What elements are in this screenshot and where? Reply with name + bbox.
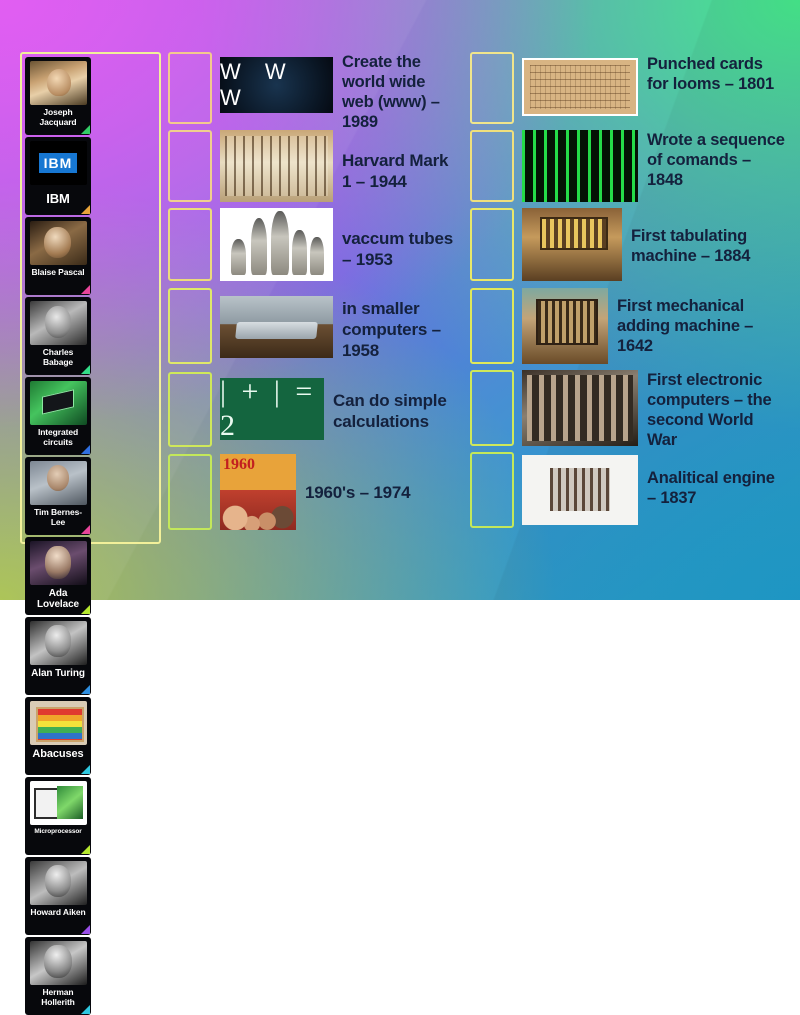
match-label: Analitical engine – 1837 <box>638 466 787 508</box>
portrait-tim-berners-lee-icon <box>30 461 87 505</box>
tile-corner-flag-icon <box>81 365 90 374</box>
match-label: First electronic computers – the second … <box>638 368 787 450</box>
tile-corner-flag-icon <box>81 205 90 214</box>
match-row: Wrote a sequence of comands – 1848 <box>470 130 790 208</box>
tile-microprocessor[interactable]: Microprocessor <box>25 777 91 855</box>
match-label: 1960's – 1974 <box>296 480 445 503</box>
match-row: Harvard Mark 1 – 1944 <box>168 130 458 208</box>
tile-label: Howard Aiken <box>27 908 89 918</box>
match-row: First mechanical adding machine – 1642 <box>470 288 790 370</box>
tile-label: Abacuses <box>27 748 89 760</box>
drop-slot-7[interactable] <box>470 52 514 124</box>
tile-corner-flag-icon <box>81 605 90 614</box>
tile-label: Ada Lovelace <box>27 588 89 610</box>
drop-slot-12[interactable] <box>470 452 514 528</box>
portrait-joseph-jacquard-icon <box>30 61 87 105</box>
match-row: First electronic computers – the second … <box>470 370 790 452</box>
harvard-mark-1-image <box>220 130 333 202</box>
portrait-herman-hollerith-icon <box>30 941 87 985</box>
tile-charles-babage[interactable]: Charles Babage <box>25 297 91 375</box>
draggable-tiles-panel: Joseph Jacquard IBM Blaise Pascal Charle… <box>20 52 161 544</box>
match-up-activity-board: Joseph Jacquard IBM Blaise Pascal Charle… <box>0 0 800 600</box>
match-label: First tabulating machine – 1884 <box>622 224 783 266</box>
portrait-alan-turing-icon <box>30 621 87 665</box>
tile-label: Joseph Jacquard <box>27 108 89 127</box>
portrait-blaise-pascal-icon <box>30 221 87 265</box>
tile-corner-flag-icon <box>81 525 90 534</box>
match-label: Create the world wide web (www) – 1989 <box>333 50 457 132</box>
match-row: 1960's – 1974 <box>168 454 458 534</box>
tabulating-machine-image <box>522 208 622 281</box>
tile-corner-flag-icon <box>81 685 90 694</box>
tile-integrated-circuits[interactable]: Integrated circuits <box>25 377 91 455</box>
punched-card-image <box>522 58 638 116</box>
1960s-album-cover-image <box>220 454 296 530</box>
match-label: vaccum tubes – 1953 <box>333 226 457 270</box>
equation-text: | + | = 2 <box>220 378 324 440</box>
tile-label: IBM <box>27 191 89 206</box>
tile-label: Integrated circuits <box>27 428 89 447</box>
match-label: First mechanical adding machine – 1642 <box>608 294 783 356</box>
match-row: W W W Create the world wide web (www) – … <box>168 52 458 130</box>
tile-corner-flag-icon <box>81 845 90 854</box>
ibm-logo-icon <box>30 141 87 185</box>
drop-slot-4[interactable] <box>168 288 212 364</box>
eniac-computer-image <box>522 370 638 446</box>
tile-ibm[interactable]: IBM <box>25 137 91 215</box>
chalkboard-equation-image: | + | = 2 <box>220 378 324 440</box>
drop-slot-5[interactable] <box>168 372 212 447</box>
match-row: Analitical engine – 1837 <box>470 452 790 532</box>
portrait-ada-lovelace-icon <box>30 541 87 585</box>
drop-column-left: W W W Create the world wide web (www) – … <box>168 52 458 534</box>
tile-corner-flag-icon <box>81 765 90 774</box>
tile-label: Charles Babage <box>27 348 89 367</box>
tile-joseph-jacquard[interactable]: Joseph Jacquard <box>25 57 91 135</box>
binary-code-image <box>522 130 638 202</box>
tile-label: Alan Turing <box>27 668 89 679</box>
tile-label: Herman Hollerith <box>27 988 89 1007</box>
tile-corner-flag-icon <box>81 925 90 934</box>
drop-slot-1[interactable] <box>168 52 212 124</box>
tile-corner-flag-icon <box>81 1005 90 1014</box>
drop-slot-8[interactable] <box>470 130 514 202</box>
colored-abacus-icon <box>30 701 87 745</box>
match-row: Punched cards for looms – 1801 <box>470 52 790 130</box>
tile-corner-flag-icon <box>81 125 90 134</box>
tile-label: Blaise Pascal <box>27 268 89 278</box>
drop-slot-10[interactable] <box>470 288 514 364</box>
analytical-engine-image <box>522 455 638 525</box>
tile-abacuses[interactable]: Abacuses <box>25 697 91 775</box>
tile-corner-flag-icon <box>81 285 90 294</box>
drop-slot-2[interactable] <box>168 130 212 202</box>
vacuum-tubes-image <box>220 208 333 281</box>
mechanical-adding-machine-image <box>522 288 608 364</box>
tile-label: Microprocessor <box>27 828 89 836</box>
match-row: in smaller computers – 1958 <box>168 288 458 372</box>
www-globe-image: W W W <box>220 57 333 113</box>
tile-label: Tim Bernes-Lee <box>27 508 89 527</box>
tile-corner-flag-icon <box>81 445 90 454</box>
match-label: Punched cards for looms – 1801 <box>638 52 787 94</box>
microprocessor-chip-icon <box>30 781 87 825</box>
laptop-image <box>220 296 333 358</box>
tile-herman-hollerith[interactable]: Herman Hollerith <box>25 937 91 1015</box>
drop-column-right: Punched cards for looms – 1801 Wrote a s… <box>470 52 790 532</box>
match-label: Wrote a sequence of comands – 1848 <box>638 128 787 190</box>
match-label: Harvard Mark 1 – 1944 <box>333 148 457 192</box>
tile-blaise-pascal[interactable]: Blaise Pascal <box>25 217 91 295</box>
match-label: in smaller computers – 1958 <box>333 296 457 361</box>
match-row: vaccum tubes – 1953 <box>168 208 458 288</box>
tile-tim-bernes-lee[interactable]: Tim Bernes-Lee <box>25 457 91 535</box>
portrait-howard-aiken-icon <box>30 861 87 905</box>
tile-howard-aiken[interactable]: Howard Aiken <box>25 857 91 935</box>
drop-slot-6[interactable] <box>168 454 212 530</box>
tile-alan-turing[interactable]: Alan Turing <box>25 617 91 695</box>
drop-slot-9[interactable] <box>470 208 514 281</box>
www-text: W W W <box>220 59 333 111</box>
match-row: First tabulating machine – 1884 <box>470 208 790 288</box>
tile-ada-lovelace[interactable]: Ada Lovelace <box>25 537 91 615</box>
portrait-charles-babbage-icon <box>30 301 87 345</box>
drop-slot-3[interactable] <box>168 208 212 281</box>
match-row: | + | = 2 Can do simple calculations <box>168 372 458 454</box>
integrated-circuit-board-icon <box>30 381 87 425</box>
match-label: Can do simple calculations <box>324 388 457 432</box>
drop-slot-11[interactable] <box>470 370 514 446</box>
